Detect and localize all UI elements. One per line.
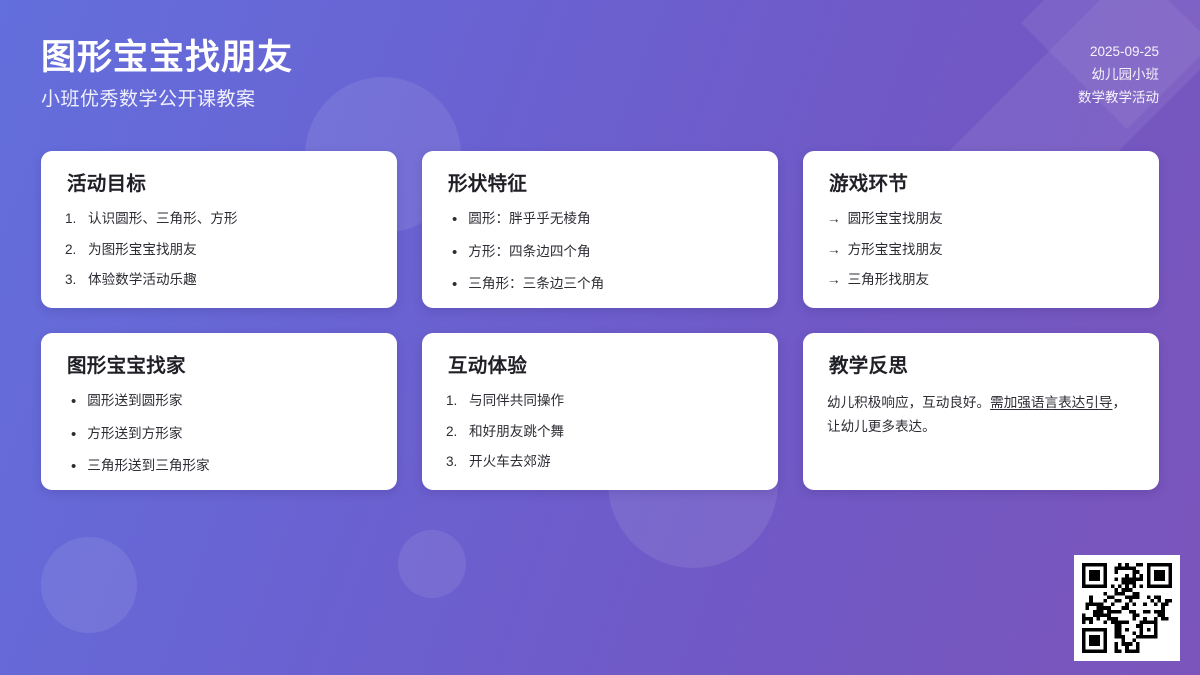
list-item: 2.和好朋友跳个舞 (446, 422, 754, 441)
list-item: •方形：四条边四个角 (446, 242, 754, 263)
list-marker-icon: → (827, 209, 841, 228)
card-title: 活动目标 (67, 173, 373, 196)
list-item-label: 圆形宝宝找朋友 (848, 209, 1135, 228)
list-item-label: 三角形：三条边三个角 (468, 274, 754, 293)
card-list: •圆形：胖乎乎无棱角•方形：四条边四个角•三角形：三条边三个角 (446, 209, 754, 295)
content-card: 形状特征•圆形：胖乎乎无棱角•方形：四条边四个角•三角形：三条边三个角 (422, 151, 778, 308)
list-item-label: 方形送到方形家 (87, 424, 373, 443)
slide-canvas: 图形宝宝找朋友 小班优秀数学公开课教案 2025-09-25 幼儿园小班 数学教… (0, 0, 1200, 675)
card-title: 教学反思 (829, 355, 1135, 378)
qr-code-image (1082, 563, 1172, 653)
list-item-label: 三角形找朋友 (848, 270, 1135, 289)
list-marker-icon: → (827, 240, 841, 259)
list-item: 1.与同伴共同操作 (446, 391, 754, 410)
card-list: 1.与同伴共同操作2.和好朋友跳个舞3.开火车去郊游 (446, 391, 754, 471)
card-grid: 活动目标1.认识圆形、三角形、方形2.为图形宝宝找朋友3.体验数学活动乐趣形状特… (41, 151, 1159, 490)
list-item-label: 方形：四条边四个角 (468, 242, 754, 261)
card-body: →圆形宝宝找朋友→方形宝宝找朋友→三角形找朋友 (827, 209, 1135, 289)
page-title: 图形宝宝找朋友 (41, 38, 293, 78)
list-item-label: 开火车去郊游 (469, 452, 754, 471)
list-marker-icon: 2. (65, 240, 81, 259)
content-card: 互动体验1.与同伴共同操作2.和好朋友跳个舞3.开火车去郊游 (422, 333, 778, 490)
list-marker-icon: • (452, 209, 457, 230)
content-card: 游戏环节→圆形宝宝找朋友→方形宝宝找朋友→三角形找朋友 (803, 151, 1159, 308)
list-item-label: 认识圆形、三角形、方形 (88, 209, 373, 228)
list-item-label: 三角形送到三角形家 (87, 456, 373, 475)
list-item-label: 体验数学活动乐趣 (88, 270, 373, 289)
card-title: 游戏环节 (829, 173, 1135, 196)
list-item: •圆形送到圆形家 (65, 391, 373, 412)
list-marker-icon: • (452, 242, 457, 263)
reflection-paragraph: 幼儿积极响应，互动良好。需加强语言表达引导，让幼儿更多表达。 (827, 391, 1135, 438)
list-marker-icon: 3. (446, 452, 462, 471)
card-title: 图形宝宝找家 (67, 355, 373, 378)
header-meta: 2025-09-25 幼儿园小班 数学教学活动 (1078, 40, 1159, 110)
list-item-label: 与同伴共同操作 (469, 391, 754, 410)
list-item: •方形送到方形家 (65, 424, 373, 445)
list-item-label: 为图形宝宝找朋友 (88, 240, 373, 259)
list-marker-icon: 3. (65, 270, 81, 289)
list-item-label: 圆形送到圆形家 (87, 391, 373, 410)
content-card: 活动目标1.认识圆形、三角形、方形2.为图形宝宝找朋友3.体验数学活动乐趣 (41, 151, 397, 308)
list-item: 3.体验数学活动乐趣 (65, 270, 373, 289)
card-list: 1.认识圆形、三角形、方形2.为图形宝宝找朋友3.体验数学活动乐趣 (65, 209, 373, 289)
meta-grade: 幼儿园小班 (1078, 63, 1159, 86)
list-marker-icon: • (71, 456, 76, 477)
decorative-circle-lower-center (398, 530, 466, 598)
card-list: →圆形宝宝找朋友→方形宝宝找朋友→三角形找朋友 (827, 209, 1135, 289)
card-body: •圆形：胖乎乎无棱角•方形：四条边四个角•三角形：三条边三个角 (446, 209, 754, 295)
slide-header: 图形宝宝找朋友 小班优秀数学公开课教案 2025-09-25 幼儿园小班 数学教… (0, 0, 1200, 140)
meta-subject: 数学教学活动 (1078, 86, 1159, 109)
card-body: 1.与同伴共同操作2.和好朋友跳个舞3.开火车去郊游 (446, 391, 754, 471)
list-marker-icon: • (452, 274, 457, 295)
list-item-label: 方形宝宝找朋友 (848, 240, 1135, 259)
list-item: →圆形宝宝找朋友 (827, 209, 1135, 228)
list-marker-icon: 2. (446, 422, 462, 441)
list-marker-icon: 1. (446, 391, 462, 410)
list-marker-icon: • (71, 424, 76, 445)
meta-date: 2025-09-25 (1078, 40, 1159, 63)
content-card: 教学反思幼儿积极响应，互动良好。需加强语言表达引导，让幼儿更多表达。 (803, 333, 1159, 490)
card-title: 形状特征 (448, 173, 754, 196)
card-title: 互动体验 (448, 355, 754, 378)
card-body: 幼儿积极响应，互动良好。需加强语言表达引导，让幼儿更多表达。 (827, 391, 1135, 438)
list-item-label: 和好朋友跳个舞 (469, 422, 754, 441)
list-item: •圆形：胖乎乎无棱角 (446, 209, 754, 230)
title-block: 图形宝宝找朋友 小班优秀数学公开课教案 (41, 38, 293, 111)
list-item: •三角形：三条边三个角 (446, 274, 754, 295)
list-item: →方形宝宝找朋友 (827, 240, 1135, 259)
decorative-circle-lower-left (41, 537, 137, 633)
list-marker-icon: • (71, 391, 76, 412)
paragraph-text-before: 幼儿积极响应，互动良好。 (827, 395, 990, 410)
page-subtitle: 小班优秀数学公开课教案 (41, 84, 293, 111)
list-item-label: 圆形：胖乎乎无棱角 (468, 209, 754, 228)
card-body: 1.认识圆形、三角形、方形2.为图形宝宝找朋友3.体验数学活动乐趣 (65, 209, 373, 289)
content-card: 图形宝宝找家•圆形送到圆形家•方形送到方形家•三角形送到三角形家 (41, 333, 397, 490)
list-marker-icon: → (827, 270, 841, 289)
qr-code[interactable] (1074, 555, 1180, 661)
list-item: 2.为图形宝宝找朋友 (65, 240, 373, 259)
list-marker-icon: 1. (65, 209, 81, 228)
list-item: 3.开火车去郊游 (446, 452, 754, 471)
card-list: •圆形送到圆形家•方形送到方形家•三角形送到三角形家 (65, 391, 373, 477)
card-body: •圆形送到圆形家•方形送到方形家•三角形送到三角形家 (65, 391, 373, 477)
list-item: →三角形找朋友 (827, 270, 1135, 289)
list-item: 1.认识圆形、三角形、方形 (65, 209, 373, 228)
paragraph-text-emphasis: 需加强语言表达引导 (990, 395, 1112, 410)
list-item: •三角形送到三角形家 (65, 456, 373, 477)
